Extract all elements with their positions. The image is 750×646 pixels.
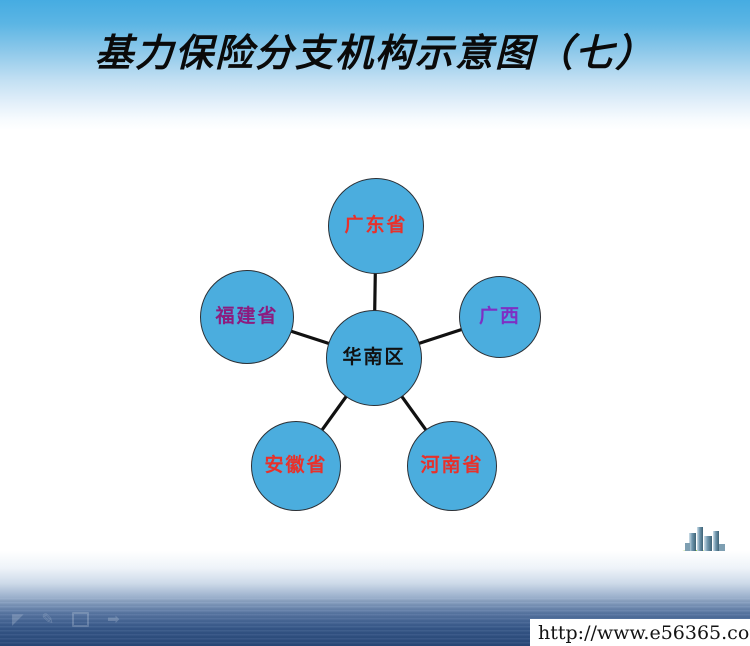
diagram-node-branch[interactable]: 安徽省	[251, 421, 341, 511]
presentation-slide: 基力保险分支机构示意图（七） 广东省广西河南省安徽省福建省华南区	[0, 0, 750, 646]
diagram-connector	[375, 273, 376, 311]
diagram-node-label: 福建省	[215, 307, 278, 326]
diagram-connector	[291, 331, 330, 344]
diagram-node-branch[interactable]: 广东省	[328, 178, 424, 274]
diagram-node-branch[interactable]: 福建省	[200, 270, 294, 364]
slideshow-nav-icons[interactable]: ◤ ✎ ➡	[12, 608, 182, 630]
diagram-node-center[interactable]: 华南区	[326, 310, 422, 406]
diagram-node-label: 河南省	[420, 456, 483, 475]
diagram-connector	[322, 396, 347, 430]
menu-square-icon[interactable]	[72, 612, 89, 627]
diagram-connector	[419, 329, 462, 343]
diagram-node-label: 安徽省	[264, 456, 327, 475]
watermark-url: http://www.e56365.com	[538, 622, 750, 644]
diagram-node-branch[interactable]: 河南省	[407, 421, 497, 511]
diagram-connector	[402, 396, 427, 430]
diagram-node-label: 广西	[479, 307, 521, 326]
diagram-node-label: 广东省	[344, 216, 407, 235]
pen-icon[interactable]: ✎	[42, 612, 55, 627]
diagram-node-label: 华南区	[342, 348, 405, 367]
watermark-bar: http://www.e56365.com	[530, 619, 750, 646]
diagram-node-branch[interactable]: 广西	[459, 276, 541, 358]
forward-arrow-icon[interactable]: ➡	[107, 612, 120, 627]
org-diagram: 广东省广西河南省安徽省福建省华南区	[0, 0, 750, 646]
back-arrow-icon[interactable]: ◤	[12, 612, 24, 627]
